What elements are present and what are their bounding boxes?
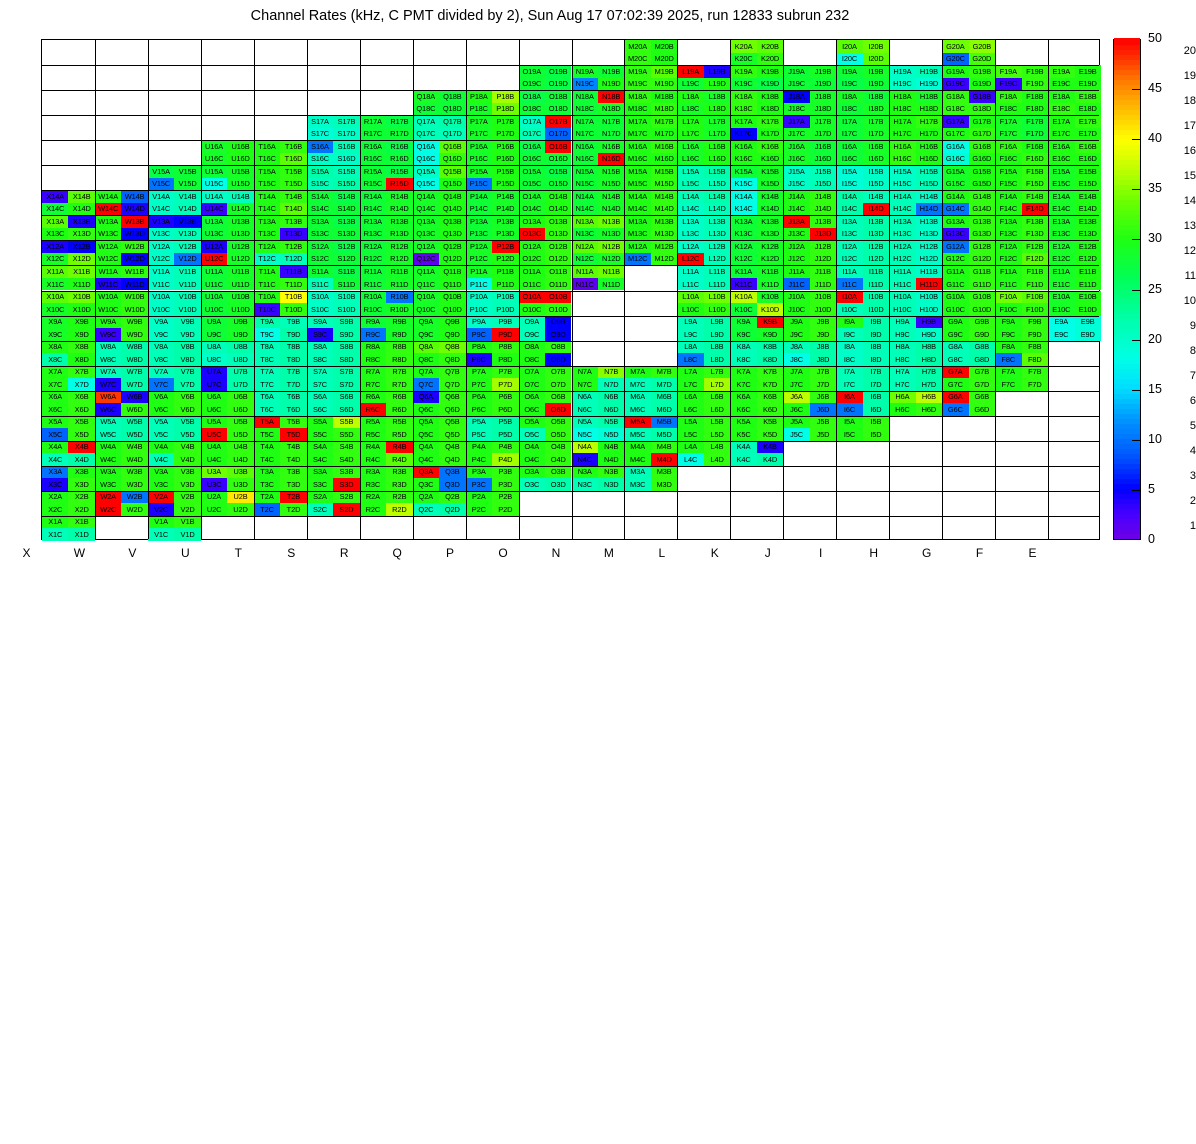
channel-cell: S7B bbox=[333, 366, 359, 379]
heatmap-cell: G17AG17BG17CG17D bbox=[942, 115, 995, 140]
heatmap-cell: X3AX3BX3CX3D bbox=[42, 466, 95, 491]
channel-cell: O18B bbox=[545, 90, 571, 103]
heatmap-cell: F18AF18BF18CF18D bbox=[995, 90, 1048, 115]
channel-cell: E11A bbox=[1048, 265, 1074, 278]
channel-cell: I12B bbox=[863, 240, 889, 253]
heatmap-cell: K5AK5BK5CK5D bbox=[730, 416, 783, 441]
channel-cell: M12A bbox=[624, 240, 650, 253]
channel-cell: L4A bbox=[677, 441, 703, 454]
channel-cell: F13C bbox=[995, 228, 1021, 241]
channel-cell: O10C bbox=[519, 303, 545, 316]
heatmap-cell: G11AG11BG11CG11D bbox=[942, 265, 995, 290]
channel-cell: I6C bbox=[836, 403, 862, 416]
channel-cell: F18B bbox=[1022, 90, 1048, 103]
channel-cell: V13C bbox=[148, 228, 174, 241]
heatmap-cell: F7AF7BF7CF7D bbox=[995, 366, 1048, 391]
channel-cell: G12B bbox=[969, 240, 995, 253]
heatmap-cell: V8AV8BV8CV8D bbox=[148, 341, 201, 366]
heatmap-cell: T13AT13BT13CT13D bbox=[254, 215, 307, 240]
channel-cell: J6C bbox=[783, 403, 809, 416]
heatmap-cell bbox=[413, 516, 466, 541]
channel-cell: T5C bbox=[254, 428, 280, 441]
channel-cell: G11A bbox=[942, 265, 968, 278]
heatmap-cell: K8AK8BK8CK8D bbox=[730, 341, 783, 366]
heatmap-cell: F8AF8BF8CF8D bbox=[995, 341, 1048, 366]
grid-line-horizontal bbox=[42, 441, 1099, 442]
channel-cell: L9D bbox=[704, 328, 730, 341]
channel-cell: S17D bbox=[333, 128, 359, 141]
channel-cell: L13A bbox=[677, 215, 703, 228]
heatmap-cell: M4AM4BM4CM4D bbox=[624, 441, 677, 466]
heatmap-cell: V6AV6BV6CV6D bbox=[148, 391, 201, 416]
heatmap-cell: J5AJ5BJ5CJ5D bbox=[783, 416, 836, 441]
channel-cell: E17B bbox=[1075, 115, 1101, 128]
channel-cell: K13D bbox=[757, 228, 783, 241]
channel-cell: S5D bbox=[333, 428, 359, 441]
channel-cell: S13B bbox=[333, 215, 359, 228]
channel-cell: V3B bbox=[174, 466, 200, 479]
channel-cell: K9B bbox=[757, 316, 783, 329]
channel-cell: N4D bbox=[598, 453, 624, 466]
heatmap-cell: K12AK12BK12CK12D bbox=[730, 240, 783, 265]
channel-cell: J10C bbox=[783, 303, 809, 316]
grid-line-horizontal bbox=[42, 391, 1099, 392]
channel-cell: N19D bbox=[598, 78, 624, 91]
channel-cell: J8A bbox=[783, 341, 809, 354]
channel-cell: N16B bbox=[598, 140, 624, 153]
heatmap-cell: M17AM17BM17CM17D bbox=[624, 115, 677, 140]
heatmap-cell: U7AU7BU7CU7D bbox=[201, 366, 254, 391]
channel-cell: M17A bbox=[624, 115, 650, 128]
channel-cell: K13C bbox=[730, 228, 756, 241]
heatmap-cell: F13AF13BF13CF13D bbox=[995, 215, 1048, 240]
heatmap-cell bbox=[254, 40, 307, 65]
channel-cell: G16D bbox=[969, 153, 995, 166]
channel-cell: Q18C bbox=[413, 103, 439, 116]
channel-cell: W6C bbox=[95, 403, 121, 416]
heatmap-cell: X10AX10BX10CX10D bbox=[42, 291, 95, 316]
channel-cell: L17B bbox=[704, 115, 730, 128]
channel-cell: I9C bbox=[836, 328, 862, 341]
heatmap-cell: G9AG9BG9CG9D bbox=[942, 316, 995, 341]
channel-cell: G10A bbox=[942, 291, 968, 304]
channel-cell: O6A bbox=[519, 391, 545, 404]
channel-cell: V15C bbox=[148, 178, 174, 191]
heatmap-cell bbox=[624, 316, 677, 341]
channel-cell: I20C bbox=[836, 53, 862, 66]
heatmap-cell bbox=[572, 491, 625, 516]
heatmap-cell: S2AS2BS2CS2D bbox=[307, 491, 360, 516]
channel-cell: J12A bbox=[783, 240, 809, 253]
heatmap-cell bbox=[677, 491, 730, 516]
channel-cell: E12C bbox=[1048, 253, 1074, 266]
heatmap-cell: W10AW10BW10CW10D bbox=[95, 291, 148, 316]
channel-cell: V11A bbox=[148, 265, 174, 278]
channel-cell: T3D bbox=[280, 478, 306, 491]
channel-cell: H12C bbox=[889, 253, 915, 266]
channel-cell: P5D bbox=[492, 428, 518, 441]
channel-cell: J14B bbox=[810, 190, 836, 203]
heatmap-cell: J8AJ8BJ8CJ8D bbox=[783, 341, 836, 366]
channel-cell: R12D bbox=[386, 253, 412, 266]
channel-cell: N6A bbox=[572, 391, 598, 404]
channel-cell: O11D bbox=[545, 278, 571, 291]
channel-cell: V13D bbox=[174, 228, 200, 241]
channel-cell: N14B bbox=[598, 190, 624, 203]
heatmap-cell: T15AT15BT15CT15D bbox=[254, 165, 307, 190]
channel-cell: F9C bbox=[995, 328, 1021, 341]
heatmap-cell: Q11AQ11BQ11CQ11D bbox=[413, 265, 466, 290]
channel-cell: R13C bbox=[360, 228, 386, 241]
channel-cell: Q7A bbox=[413, 366, 439, 379]
channel-cell: X9B bbox=[68, 316, 94, 329]
channel-cell: F19D bbox=[1022, 78, 1048, 91]
heatmap-cell bbox=[624, 491, 677, 516]
channel-cell: N3A bbox=[572, 466, 598, 479]
channel-cell: P8A bbox=[466, 341, 492, 354]
channel-cell: I7B bbox=[863, 366, 889, 379]
channel-cell: K14D bbox=[757, 203, 783, 216]
channel-cell: I5C bbox=[836, 428, 862, 441]
channel-cell: P3C bbox=[466, 478, 492, 491]
channel-cell: J12D bbox=[810, 253, 836, 266]
channel-cell: U8B bbox=[227, 341, 253, 354]
heatmap-cell bbox=[995, 516, 1048, 541]
heatmap-cell: E17AE17BE17CE17D bbox=[1048, 115, 1101, 140]
channel-cell: O14B bbox=[545, 190, 571, 203]
channel-cell: U4C bbox=[201, 453, 227, 466]
channel-cell: W13D bbox=[121, 228, 147, 241]
heatmap-cell: K13AK13BK13CK13D bbox=[730, 215, 783, 240]
channel-cell: U9D bbox=[227, 328, 253, 341]
channel-cell: Q17D bbox=[439, 128, 465, 141]
heatmap-cell: U13AU13BU13CU13D bbox=[201, 215, 254, 240]
heatmap-cell bbox=[413, 40, 466, 65]
channel-cell: I7C bbox=[836, 378, 862, 391]
channel-cell: U10B bbox=[227, 291, 253, 304]
channel-cell: J13D bbox=[810, 228, 836, 241]
channel-cell: U12B bbox=[227, 240, 253, 253]
heatmap-cell: L12AL12BL12CL12D bbox=[677, 240, 730, 265]
channel-cell: K8A bbox=[730, 341, 756, 354]
channel-cell: S6D bbox=[333, 403, 359, 416]
channel-cell: H10B bbox=[916, 291, 942, 304]
channel-cell: Q8C bbox=[413, 353, 439, 366]
heatmap-cell: R7AR7BR7CR7D bbox=[360, 366, 413, 391]
channel-cell: S12B bbox=[333, 240, 359, 253]
channel-cell: T13D bbox=[280, 228, 306, 241]
channel-cell: P6B bbox=[492, 391, 518, 404]
channel-cell: O17D bbox=[545, 128, 571, 141]
channel-cell: J13C bbox=[783, 228, 809, 241]
channel-cell: X11B bbox=[68, 265, 94, 278]
heatmap-cell: K9AK9BK9CK9D bbox=[730, 316, 783, 341]
channel-cell: O8B bbox=[545, 341, 571, 354]
heatmap-cell: R14AR14BR14CR14D bbox=[360, 190, 413, 215]
channel-cell: S10D bbox=[333, 303, 359, 316]
channel-cell: I18A bbox=[836, 90, 862, 103]
channel-cell: K10B bbox=[757, 291, 783, 304]
channel-cell: T11A bbox=[254, 265, 280, 278]
channel-cell: N17D bbox=[598, 128, 624, 141]
channel-cell: H19D bbox=[916, 78, 942, 91]
channel-cell: T2B bbox=[280, 491, 306, 504]
channel-cell: L19D bbox=[704, 78, 730, 91]
channel-cell: R6A bbox=[360, 391, 386, 404]
channel-cell: J7D bbox=[810, 378, 836, 391]
channel-cell: X3B bbox=[68, 466, 94, 479]
channel-cell: U7D bbox=[227, 378, 253, 391]
channel-cell: O8C bbox=[519, 353, 545, 366]
channel-cell: V14C bbox=[148, 203, 174, 216]
channel-cell: O7D bbox=[545, 378, 571, 391]
channel-cell: S16A bbox=[307, 140, 333, 153]
channel-cell: X12D bbox=[68, 253, 94, 266]
channel-cell: N19B bbox=[598, 65, 624, 78]
channel-cell: P15A bbox=[466, 165, 492, 178]
channel-cell: O10D bbox=[545, 303, 571, 316]
heatmap-cell bbox=[995, 466, 1048, 491]
channel-cell: F19B bbox=[1022, 65, 1048, 78]
heatmap-cell bbox=[624, 291, 677, 316]
channel-cell: E18D bbox=[1075, 103, 1101, 116]
channel-cell: O9B bbox=[545, 316, 571, 329]
heatmap-cell: N12AN12BN12CN12D bbox=[572, 240, 625, 265]
heatmap-cell bbox=[360, 40, 413, 65]
channel-cell: M7A bbox=[624, 366, 650, 379]
grid-line-horizontal bbox=[42, 291, 1099, 292]
channel-cell: R7B bbox=[386, 366, 412, 379]
channel-cell: K16C bbox=[730, 153, 756, 166]
channel-cell: Q7C bbox=[413, 378, 439, 391]
channel-cell: R2B bbox=[386, 491, 412, 504]
channel-cell: H6D bbox=[916, 403, 942, 416]
heatmap-cell bbox=[95, 115, 148, 140]
channel-cell: X8B bbox=[68, 341, 94, 354]
heatmap-cell bbox=[836, 516, 889, 541]
heatmap-cell bbox=[836, 466, 889, 491]
channel-cell: X7D bbox=[68, 378, 94, 391]
channel-cell: Q14D bbox=[439, 203, 465, 216]
channel-cell: P11D bbox=[492, 278, 518, 291]
channel-cell: T2C bbox=[254, 503, 280, 516]
channel-cell: G16A bbox=[942, 140, 968, 153]
heatmap-cell: L7AL7BL7CL7D bbox=[677, 366, 730, 391]
grid-line-horizontal bbox=[42, 190, 1099, 191]
channel-cell: X8D bbox=[68, 353, 94, 366]
heatmap-cell: M7AM7BM7CM7D bbox=[624, 366, 677, 391]
channel-cell: G7B bbox=[969, 366, 995, 379]
channel-cell: V10D bbox=[174, 303, 200, 316]
channel-cell: G15A bbox=[942, 165, 968, 178]
channel-cell: R13B bbox=[386, 215, 412, 228]
heatmap-cell bbox=[572, 291, 625, 316]
channel-cell: R15A bbox=[360, 165, 386, 178]
heatmap-cell bbox=[572, 40, 625, 65]
channel-cell: R11B bbox=[386, 265, 412, 278]
channel-cell: R5B bbox=[386, 416, 412, 429]
heatmap-cell bbox=[1048, 341, 1101, 366]
channel-cell: W7B bbox=[121, 366, 147, 379]
heatmap-cell: J14AJ14BJ14CJ14D bbox=[783, 190, 836, 215]
heatmap-cell bbox=[677, 40, 730, 65]
heatmap-cell bbox=[95, 165, 148, 190]
heatmap-cell bbox=[572, 516, 625, 541]
heatmap-cell bbox=[572, 341, 625, 366]
channel-cell: P10B bbox=[492, 291, 518, 304]
heatmap-cell: V10AV10BV10CV10D bbox=[148, 291, 201, 316]
channel-cell: P14B bbox=[492, 190, 518, 203]
channel-cell: J16D bbox=[810, 153, 836, 166]
channel-cell: X6A bbox=[42, 391, 68, 404]
channel-cell: O17C bbox=[519, 128, 545, 141]
channel-cell: W12A bbox=[95, 240, 121, 253]
channel-cell: I9A bbox=[836, 316, 862, 329]
heatmap-cell: P16AP16BP16CP16D bbox=[466, 140, 519, 165]
heatmap-cell: L4AL4BL4CL4D bbox=[677, 441, 730, 466]
heatmap-cell: H8AH8BH8CH8D bbox=[889, 341, 942, 366]
channel-cell: O11A bbox=[519, 265, 545, 278]
channel-cell: M20C bbox=[624, 53, 650, 66]
channel-cell: I10D bbox=[863, 303, 889, 316]
channel-cell: F14B bbox=[1022, 190, 1048, 203]
channel-cell: W4D bbox=[121, 453, 147, 466]
channel-cell: J16B bbox=[810, 140, 836, 153]
heatmap-cell bbox=[783, 441, 836, 466]
channel-cell: V7A bbox=[148, 366, 174, 379]
heatmap-cell: K16AK16BK16CK16D bbox=[730, 140, 783, 165]
channel-cell: G13C bbox=[942, 228, 968, 241]
channel-cell: T4D bbox=[280, 453, 306, 466]
channel-cell: X13A bbox=[42, 215, 68, 228]
channel-cell: K8C bbox=[730, 353, 756, 366]
channel-cell: P18D bbox=[492, 103, 518, 116]
channel-cell: R11C bbox=[360, 278, 386, 291]
channel-cell: W9D bbox=[121, 328, 147, 341]
channel-cell: M7B bbox=[651, 366, 677, 379]
channel-cell: W10B bbox=[121, 291, 147, 304]
heatmap-cell: P10AP10BP10CP10D bbox=[466, 291, 519, 316]
heatmap-cell: O10AO10BO10CO10D bbox=[519, 291, 572, 316]
channel-cell: O6B bbox=[545, 391, 571, 404]
channel-cell: P8D bbox=[492, 353, 518, 366]
channel-cell: S9B bbox=[333, 316, 359, 329]
channel-cell: M19B bbox=[651, 65, 677, 78]
heatmap-cell: W5AW5BW5CW5D bbox=[95, 416, 148, 441]
channel-cell: S2D bbox=[333, 503, 359, 516]
colorbar-tick-mark bbox=[1132, 290, 1141, 291]
channel-cell: P2A bbox=[466, 491, 492, 504]
channel-cell: W8B bbox=[121, 341, 147, 354]
heatmap-cell bbox=[1048, 366, 1101, 391]
channel-cell: G12A bbox=[942, 240, 968, 253]
channel-cell: F17D bbox=[1022, 128, 1048, 141]
heatmap-cell: W11AW11BW11CW11D bbox=[95, 265, 148, 290]
channel-cell: R13D bbox=[386, 228, 412, 241]
channel-cell: S5B bbox=[333, 416, 359, 429]
channel-cell: P13A bbox=[466, 215, 492, 228]
channel-cell: V10C bbox=[148, 303, 174, 316]
channel-cell: K6B bbox=[757, 391, 783, 404]
channel-cell: E18C bbox=[1048, 103, 1074, 116]
heatmap-cell bbox=[836, 491, 889, 516]
heatmap-cell: R17AR17BR17CR17D bbox=[360, 115, 413, 140]
channel-cell: E19C bbox=[1048, 78, 1074, 91]
heatmap-cell: O14AO14BO14CO14D bbox=[519, 190, 572, 215]
channel-cell: E10A bbox=[1048, 291, 1074, 304]
channel-cell: G10D bbox=[969, 303, 995, 316]
channel-cell: P8B bbox=[492, 341, 518, 354]
heatmap-cell: M16AM16BM16CM16D bbox=[624, 140, 677, 165]
channel-cell: S11A bbox=[307, 265, 333, 278]
channel-cell: G15D bbox=[969, 178, 995, 191]
heatmap-cell: P12AP12BP12CP12D bbox=[466, 240, 519, 265]
channel-cell: Q10C bbox=[413, 303, 439, 316]
channel-cell: H9D bbox=[916, 328, 942, 341]
heatmap-cell: U14AU14BU14CU14D bbox=[201, 190, 254, 215]
channel-cell: V11C bbox=[148, 278, 174, 291]
channel-cell: X12C bbox=[42, 253, 68, 266]
channel-cell: N7A bbox=[572, 366, 598, 379]
channel-cell: I15A bbox=[836, 165, 862, 178]
channel-cell: E10B bbox=[1075, 291, 1101, 304]
heatmap-cell: Q9AQ9BQ9CQ9D bbox=[413, 316, 466, 341]
channel-cell: Q7B bbox=[439, 366, 465, 379]
channel-cell: K11D bbox=[757, 278, 783, 291]
channel-cell: S10C bbox=[307, 303, 333, 316]
channel-cell: H8D bbox=[916, 353, 942, 366]
heatmap-cell: H6AH6BH6CH6D bbox=[889, 391, 942, 416]
heatmap-cell: P9AP9BP9CP9D bbox=[466, 316, 519, 341]
channel-cell: Q4C bbox=[413, 453, 439, 466]
channel-cell: H10C bbox=[889, 303, 915, 316]
channel-cell: H13A bbox=[889, 215, 915, 228]
channel-cell: Q3D bbox=[439, 478, 465, 491]
heatmap-cell: G13AG13BG13CG13D bbox=[942, 215, 995, 240]
heatmap-cell: H13AH13BH13CH13D bbox=[889, 215, 942, 240]
channel-cell: J7A bbox=[783, 366, 809, 379]
channel-cell: E11B bbox=[1075, 265, 1101, 278]
heatmap-cell bbox=[360, 516, 413, 541]
channel-cell: T14C bbox=[254, 203, 280, 216]
channel-cell: P18C bbox=[466, 103, 492, 116]
channel-cell: Q16B bbox=[439, 140, 465, 153]
channel-cell: N3B bbox=[598, 466, 624, 479]
heatmap-cell bbox=[148, 65, 201, 90]
channel-cell: K6D bbox=[757, 403, 783, 416]
channel-cell: L11D bbox=[704, 278, 730, 291]
channel-cell: U2B bbox=[227, 491, 253, 504]
channel-cell: I16C bbox=[836, 153, 862, 166]
heatmap-cell: I8AI8BI8CI8D bbox=[836, 341, 889, 366]
channel-cell: H13D bbox=[916, 228, 942, 241]
channel-cell: J14C bbox=[783, 203, 809, 216]
channel-cell: O15B bbox=[545, 165, 571, 178]
channel-cell: I14A bbox=[836, 190, 862, 203]
channel-cell: R12A bbox=[360, 240, 386, 253]
channel-cell: V2B bbox=[174, 491, 200, 504]
heatmap-cell bbox=[307, 65, 360, 90]
channel-cell: R7D bbox=[386, 378, 412, 391]
heatmap-cell: P2AP2BP2CP2D bbox=[466, 491, 519, 516]
channel-cell: R2D bbox=[386, 503, 412, 516]
channel-cell: U14A bbox=[201, 190, 227, 203]
heatmap-cell: S5AS5BS5CS5D bbox=[307, 416, 360, 441]
heatmap-cell: H9AH9BH9CH9D bbox=[889, 316, 942, 341]
channel-cell: X1C bbox=[42, 528, 68, 541]
heatmap-cell: Q10AQ10BQ10CQ10D bbox=[413, 291, 466, 316]
channel-cell: N6C bbox=[572, 403, 598, 416]
